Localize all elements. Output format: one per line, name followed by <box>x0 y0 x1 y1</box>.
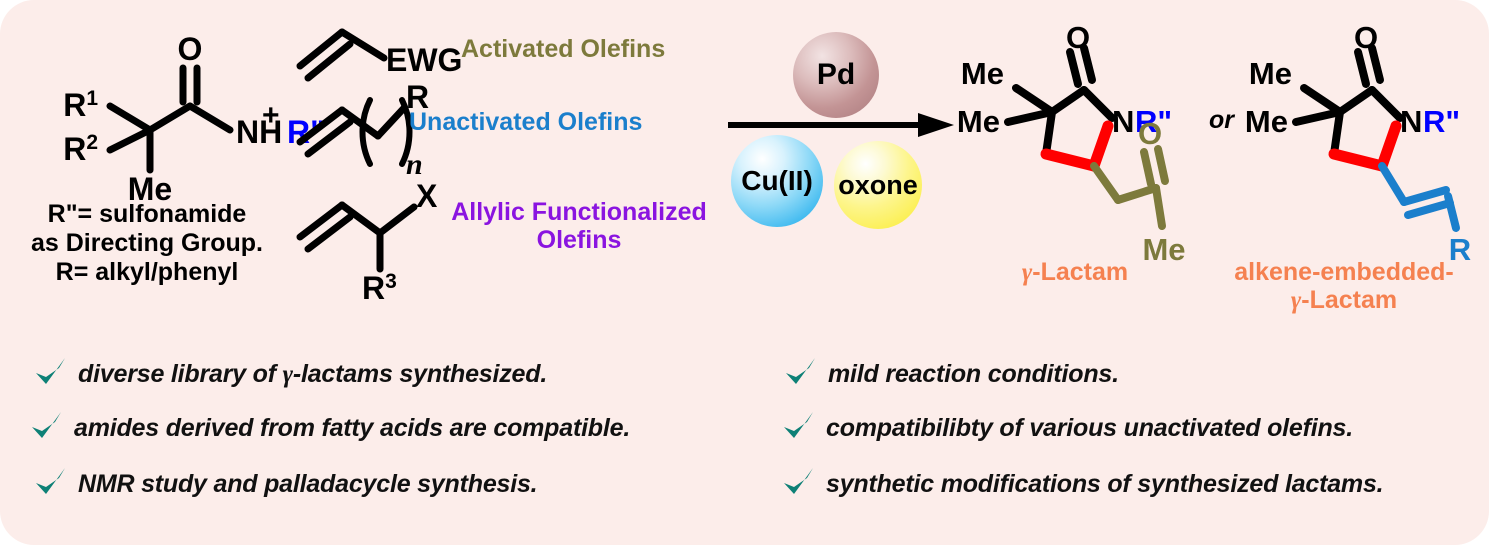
highlight-item-right-3: synthetic modifications of synthesized l… <box>780 466 1383 502</box>
graphical-abstract: O R1 R2 Me NH R" + R"= sulfonamide as Di… <box>0 0 1489 545</box>
product1-caption: γ-Lactam <box>975 258 1175 287</box>
product2-caption: alkene-embedded- γ-Lactam <box>1200 258 1488 315</box>
product2-caption-lactam: -Lactam <box>1301 286 1397 314</box>
highlight-text: NMR study and palladacycle synthesis. <box>78 470 537 499</box>
olefin-label-n-subscript: n <box>406 148 423 181</box>
olefin-label-EWG: EWG <box>386 42 462 78</box>
product1-atom-N: N <box>1112 104 1134 139</box>
or-label: or <box>1209 107 1234 133</box>
olefin-name-unactivated: Unactivated Olefins <box>409 109 642 135</box>
highlight-item-left-2: amides derived from fatty acids are comp… <box>28 410 630 446</box>
catalyst-sphere-pd: Pd <box>793 32 879 118</box>
product1-atom-Me-top: Me <box>961 56 1004 91</box>
allylic-name-line-2: Olefins <box>428 226 730 254</box>
atom-label-R1: R1 <box>63 87 98 124</box>
product2-atom-Rprime: R" <box>1423 104 1460 139</box>
plus-sign: + <box>262 100 280 132</box>
olefin-label-R3: R3 <box>362 270 397 307</box>
oxidant-sphere-oxone: oxone <box>834 141 922 229</box>
product1-caption-gamma: γ <box>1022 259 1032 286</box>
highlight-text: mild reaction conditions. <box>828 360 1119 389</box>
activated-olefin-structure: EWG <box>292 18 452 80</box>
olefin-name-activated: Activated Olefins <box>461 36 665 62</box>
highlight-text: amides derived from fatty acids are comp… <box>74 414 630 443</box>
product1-atom-O: O <box>1066 20 1090 55</box>
product-alkene-embedded-lactam-structure: O Me Me N R" R <box>1248 26 1478 256</box>
highlight-item-left-1: diverse library of γ-lactams synthesized… <box>32 356 547 392</box>
check-icon <box>32 466 68 502</box>
highlight-item-left-3: NMR study and palladacycle synthesis. <box>32 466 537 502</box>
product1-atom-Me-bottom: Me <box>957 104 1000 139</box>
amide-substrate-structure: O R1 R2 Me NH R" <box>40 28 300 193</box>
product2-atom-Me-bottom: Me <box>1245 104 1288 139</box>
check-icon <box>32 356 68 392</box>
product2-atom-Me-top: Me <box>1249 56 1292 91</box>
product2-atom-O: O <box>1354 20 1378 55</box>
olefin-name-allylic: Allylic Functionalized Olefins <box>428 198 730 254</box>
allylic-name-line-1: Allylic Functionalized <box>428 198 730 226</box>
catalyst-sphere-pd-label: Pd <box>793 32 879 118</box>
highlight-item-right-1: mild reaction conditions. <box>782 356 1119 392</box>
check-icon <box>782 356 818 392</box>
product-gamma-lactam-structure: O Me Me N R" O Me <box>960 26 1190 256</box>
note-line-1: R"= sulfonamide <box>12 200 282 229</box>
product2-caption-line-2: γ-Lactam <box>1200 286 1488 315</box>
oxidant-sphere-oxone-label: oxone <box>834 141 922 229</box>
highlight-text: compatibilibty of various unactivated ol… <box>826 414 1353 443</box>
oxidant-sphere-cu-label: Cu(II) <box>731 135 823 227</box>
highlight-text: diverse library of γ-lactams synthesized… <box>78 360 547 389</box>
product2-caption-gamma: γ <box>1291 287 1301 314</box>
product2-caption-line-1: alkene-embedded- <box>1200 258 1488 286</box>
product1-ketone-O: O <box>1138 116 1162 151</box>
note-line-2: as Directing Group. <box>12 229 282 258</box>
atom-label-O: O <box>178 31 203 67</box>
check-icon <box>780 466 816 502</box>
highlight-item-right-2: compatibilibty of various unactivated ol… <box>780 410 1353 446</box>
atom-label-R2: R2 <box>63 131 98 168</box>
note-line-3: R= alkyl/phenyl <box>12 258 282 287</box>
product2-atom-N: N <box>1400 104 1422 139</box>
product1-caption-text: -Lactam <box>1032 258 1128 286</box>
check-icon <box>780 410 816 446</box>
substrate-note: R"= sulfonamide as Directing Group. R= a… <box>12 200 282 287</box>
oxidant-sphere-cu: Cu(II) <box>731 135 823 227</box>
highlight-text: synthetic modifications of synthesized l… <box>826 470 1383 499</box>
check-icon <box>28 410 64 446</box>
